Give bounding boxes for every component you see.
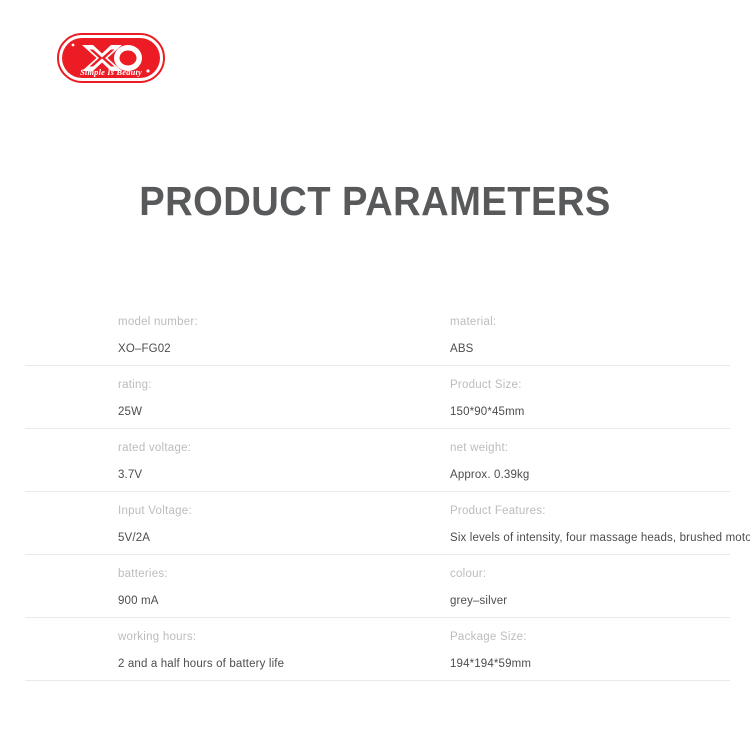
spec-cell-left: batteries: 900 mA [118, 555, 438, 608]
spec-value: ABS [450, 342, 740, 356]
spec-label: rating: [118, 378, 438, 392]
spec-value: 3.7V [118, 468, 438, 482]
product-parameters-page: Simple Is Beauty PRODUCT PARAMETERS mode… [0, 0, 750, 750]
spec-label: colour: [450, 567, 740, 581]
spec-cell-left: working hours: 2 and a half hours of bat… [118, 618, 438, 671]
spec-value: 25W [118, 405, 438, 419]
logo-xo-mark-icon: Simple Is Beauty [62, 38, 160, 78]
spec-cell-left: rating: 25W [118, 366, 438, 419]
spec-cell-right: Product Size: 150*90*45mm [450, 366, 740, 419]
table-row: working hours: 2 and a half hours of bat… [0, 618, 750, 681]
spec-label: Product Features: [450, 504, 740, 518]
spec-cell-right: Package Size: 194*194*59mm [450, 618, 740, 671]
spec-cell-left: rated voltage: 3.7V [118, 429, 438, 482]
spec-label: rated voltage: [118, 441, 438, 455]
spec-label: Product Size: [450, 378, 740, 392]
xo-brand-logo: Simple Is Beauty [57, 33, 165, 83]
table-row: Input Voltage: 5V/2A Product Features: S… [0, 492, 750, 555]
table-row: rating: 25W Product Size: 150*90*45mm [0, 366, 750, 429]
spec-label: working hours: [118, 630, 438, 644]
page-title: PRODUCT PARAMETERS [26, 178, 724, 225]
table-row: batteries: 900 mA colour: grey–silver [0, 555, 750, 618]
logo-tagline-text: Simple Is Beauty [80, 68, 142, 77]
table-row: model number: XO–FG02 material: ABS [0, 303, 750, 366]
spec-value: 150*90*45mm [450, 405, 740, 419]
spec-cell-left: Input Voltage: 5V/2A [118, 492, 438, 545]
spec-value: 2 and a half hours of battery life [118, 657, 438, 671]
row-divider [25, 680, 730, 681]
spec-cell-left: model number: XO–FG02 [118, 303, 438, 356]
spec-label: material: [450, 315, 740, 329]
spec-cell-right: colour: grey–silver [450, 555, 740, 608]
spec-label: Input Voltage: [118, 504, 438, 518]
spec-value: grey–silver [450, 594, 740, 608]
specs-table: model number: XO–FG02 material: ABS rati… [0, 303, 750, 681]
spec-cell-right: net weight: Approx. 0.39kg [450, 429, 740, 482]
spec-cell-right: Product Features: Six levels of intensit… [450, 492, 740, 545]
spec-label: net weight: [450, 441, 740, 455]
spec-cell-right: material: ABS [450, 303, 740, 356]
spec-value: 194*194*59mm [450, 657, 740, 671]
spec-value: XO–FG02 [118, 342, 438, 356]
spec-value: 5V/2A [118, 531, 438, 545]
spec-label: Package Size: [450, 630, 740, 644]
spec-value: Six levels of intensity, four massage he… [450, 531, 740, 545]
spec-label: model number: [118, 315, 438, 329]
spec-value: 900 mA [118, 594, 438, 608]
spec-value: Approx. 0.39kg [450, 468, 740, 482]
table-row: rated voltage: 3.7V net weight: Approx. … [0, 429, 750, 492]
spec-label: batteries: [118, 567, 438, 581]
